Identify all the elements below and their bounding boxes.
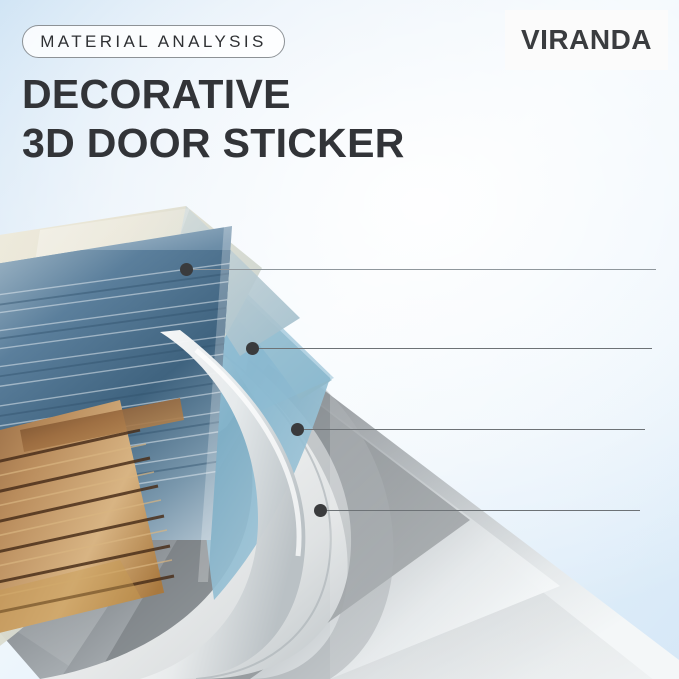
callout-leader-bonding (304, 429, 645, 430)
page-title: DECORATIVE 3D DOOR STICKER (22, 70, 662, 168)
brand-name: VIRANDA (521, 24, 652, 56)
brand-logo-box: VIRANDA (505, 10, 668, 70)
callout-dot-bonding (291, 423, 304, 436)
title-line-1: DECORATIVE (22, 71, 291, 117)
poster-canvas: MATERIAL ANALYSIS DECORATIVE 3D DOOR STI… (0, 0, 679, 679)
callout-leader-hd-pattern (259, 348, 652, 349)
eyebrow-label: MATERIAL ANALYSIS (40, 33, 267, 50)
callout-dot-backing (314, 504, 327, 517)
callout-leader-backing (327, 510, 640, 511)
callout-dot-waterproof (180, 263, 193, 276)
callout-dot-hd-pattern (246, 342, 259, 355)
title-line-2: 3D DOOR STICKER (22, 119, 662, 168)
eyebrow-badge: MATERIAL ANALYSIS (22, 25, 285, 58)
callout-rule-waterproof (193, 269, 656, 270)
